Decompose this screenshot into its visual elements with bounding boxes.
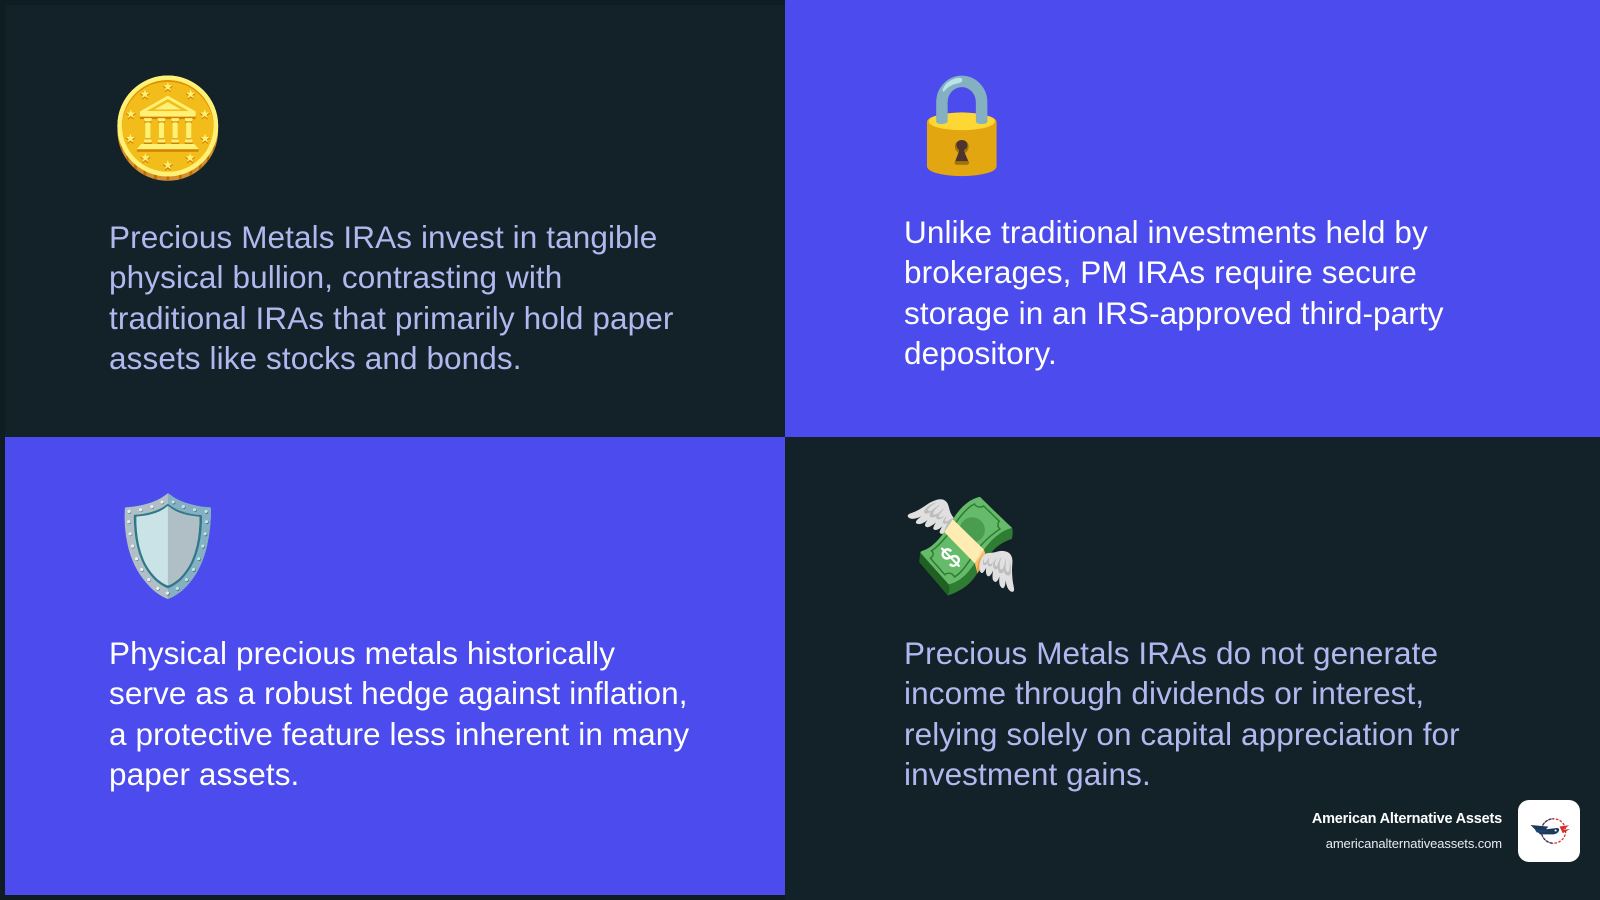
panel-secure-storage: 🔒 Unlike traditional investments held by… <box>785 0 1600 437</box>
panel-tangible-bullion: 🪙 Precious Metals IRAs invest in tangibl… <box>5 5 785 437</box>
panel-inflation-hedge: 🛡️ Physical precious metals historically… <box>5 437 785 895</box>
brand-name: American Alternative Assets <box>1312 811 1502 827</box>
panel-text-inflation-hedge: Physical precious metals historically se… <box>109 633 699 794</box>
money-with-wings-icon: 💸 <box>900 485 1024 609</box>
infographic-canvas: 🪙 Precious Metals IRAs invest in tangibl… <box>0 0 1600 900</box>
brand-footer: American Alternative Assets americanalte… <box>1312 800 1580 862</box>
panel-text-tangible-bullion: Precious Metals IRAs invest in tangible … <box>109 217 699 378</box>
american-alternative-assets-logo <box>1518 800 1580 862</box>
padlock-icon: 🔒 <box>900 62 1024 186</box>
brand-text-block: American Alternative Assets americanalte… <box>1312 811 1502 851</box>
silver-coin-icon: 🪙 <box>106 67 230 191</box>
panel-no-income-generation: 💸 Precious Metals IRAs do not generate i… <box>785 437 1600 900</box>
brand-url: americanalternativeassets.com <box>1312 836 1502 851</box>
panel-text-secure-storage: Unlike traditional investments held by b… <box>904 212 1504 373</box>
panel-text-no-income-generation: Precious Metals IRAs do not generate inc… <box>904 633 1504 794</box>
shield-icon: 🛡️ <box>106 485 230 609</box>
